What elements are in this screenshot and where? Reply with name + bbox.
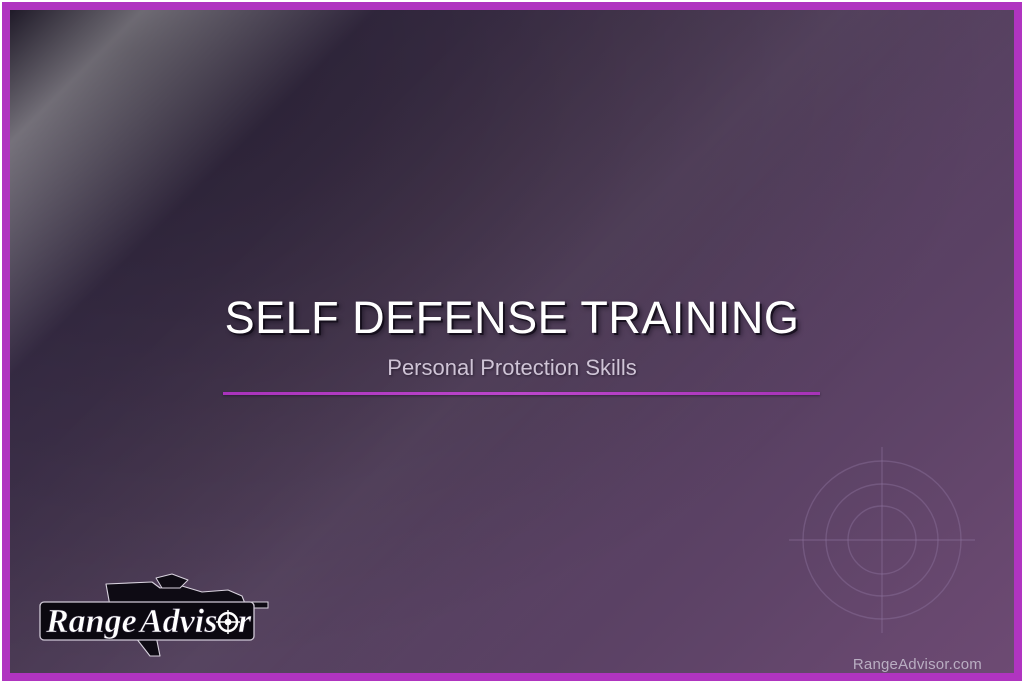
presentation-slide: SELF DEFENSE TRAINING Personal Protectio… bbox=[0, 0, 1024, 683]
slide-border bbox=[2, 2, 1022, 681]
